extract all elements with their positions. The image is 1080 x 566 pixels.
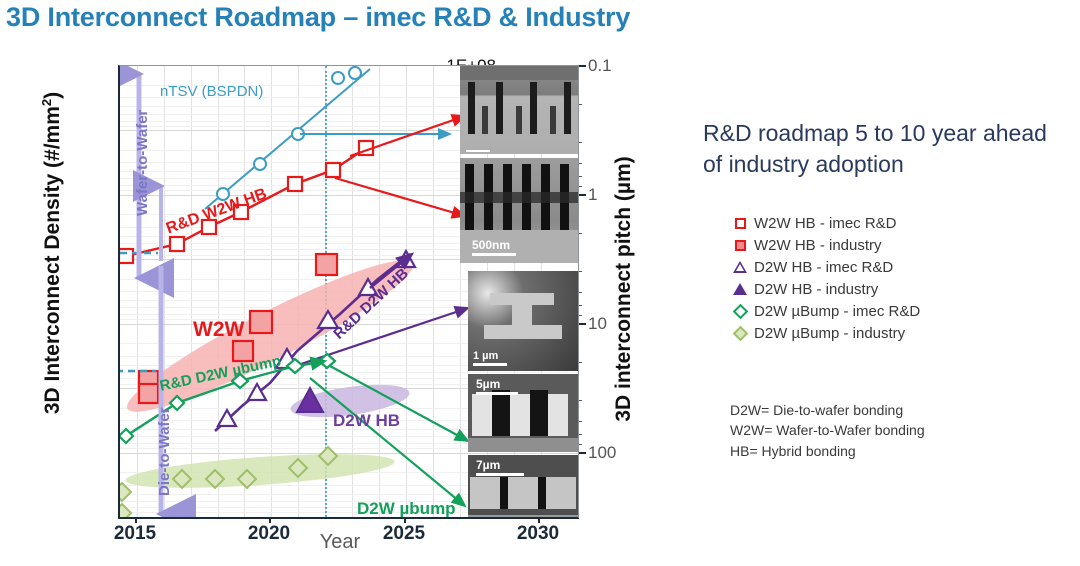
label-die-to-wafer: Die-to-Wafer	[156, 407, 173, 496]
inset-ntsv-sem	[460, 65, 579, 154]
legend-item-d2w-ubump-imec[interactable]: D2W µBump - imec R&D	[730, 300, 1060, 322]
legend-label: D2W HB - imec R&D	[754, 259, 893, 276]
x-tick-2015: 2015	[90, 523, 180, 545]
inset-ubump-7um-sem: 7µm	[468, 455, 578, 519]
inset-w2w-hb-scale-label: 500nm	[472, 238, 510, 252]
y-tick-right-10: 10	[588, 314, 648, 334]
legend-item-d2w-hb-industry[interactable]: D2W HB - industry	[730, 278, 1060, 300]
legend-item-w2w-hb-industry[interactable]: W2W HB - industry	[730, 234, 1060, 256]
annotation-d2w-ubump: D2W µbump	[357, 499, 456, 519]
slide-root: 3D Interconnect Roadmap – imec R&D & Ind…	[0, 0, 1080, 566]
page-title: 3D Interconnect Roadmap – imec R&D & Ind…	[6, 2, 766, 33]
y-axis-left-title-text: 3D Interconnect Density (#/mm	[41, 106, 64, 414]
legend-item-d2w-hb-imec[interactable]: D2W HB - imec R&D	[730, 256, 1060, 278]
inset-ubump-5um-scale-bar	[476, 392, 518, 395]
inset-d2w-hb-scale-bar	[473, 363, 507, 366]
y-axis-left-title: 3D Interconnect Density (#/mm2)	[39, 13, 65, 493]
y-tick-right-0p1: 0.1	[588, 56, 648, 76]
inset-ubump-5um-sem: 5µm	[468, 374, 578, 452]
chart-plot-area: Wafer-to-Wafer Die-to-Wafer nTSV (BSPDN)…	[118, 65, 579, 519]
definitions-block: D2W= Die-to-wafer bonding W2W= Wafer-to-…	[730, 400, 1070, 461]
y-axis-left-title-end: )	[41, 92, 64, 99]
legend-label: D2W µBump - imec R&D	[754, 303, 920, 320]
legend-item-w2w-hb-imec[interactable]: W2W HB - imec R&D	[730, 212, 1060, 234]
label-wafer-to-wafer: Wafer-to-Wafer	[134, 110, 151, 216]
definition-w2w: W2W= Wafer-to-Wafer bonding	[730, 420, 1070, 440]
legend-label: W2W HB - imec R&D	[754, 215, 897, 232]
annotation-w2w: W2W	[193, 318, 244, 342]
inset-d2w-hb-scale-label: 1 µm	[473, 350, 498, 362]
inset-w2w-hb-scale-bar	[472, 253, 516, 256]
inset-ubump-5um-scale-label: 5µm	[476, 377, 500, 391]
legend-item-d2w-ubump-industry[interactable]: D2W µBump - industry	[730, 322, 1060, 344]
chart-legend: W2W HB - imec R&D W2W HB - industry D2W …	[730, 212, 1060, 344]
x-tick-2020: 2020	[224, 523, 314, 545]
legend-label: D2W HB - industry	[754, 281, 878, 298]
y-tick-right-1: 1	[588, 185, 648, 205]
square-open-icon	[730, 218, 750, 229]
inset-ntsv-scale-bar	[466, 150, 490, 152]
x-tick-2030: 2030	[493, 523, 583, 545]
headline-text: R&D roadmap 5 to 10 year ahead of indust…	[703, 118, 1063, 180]
y-axis-left-sup: 2	[39, 99, 54, 106]
inset-ubump-7um-scale-bar	[476, 473, 524, 476]
annotation-ntsv: nTSV (BSPDN)	[160, 83, 263, 100]
inset-d2w-hb-sem: 1 µm	[468, 271, 578, 371]
legend-label: D2W µBump - industry	[754, 325, 905, 342]
inset-ubump-7um-scale-label: 7µm	[476, 458, 500, 472]
diamond-pale-icon	[730, 328, 750, 339]
inset-w2w-hb-sem: 500nm	[460, 158, 579, 263]
triangle-open-icon	[730, 261, 750, 273]
y-tick-right-100: 100	[588, 443, 648, 463]
square-filled-icon	[730, 240, 750, 251]
annotation-d2w-hb: D2W HB	[333, 411, 400, 431]
x-tick-2025: 2025	[359, 523, 449, 545]
triangle-filled-icon	[730, 283, 750, 295]
definition-hb: HB= Hybrid bonding	[730, 441, 1070, 461]
legend-label: W2W HB - industry	[754, 237, 882, 254]
definition-d2w: D2W= Die-to-wafer bonding	[730, 400, 1070, 420]
diamond-open-icon	[730, 306, 750, 317]
